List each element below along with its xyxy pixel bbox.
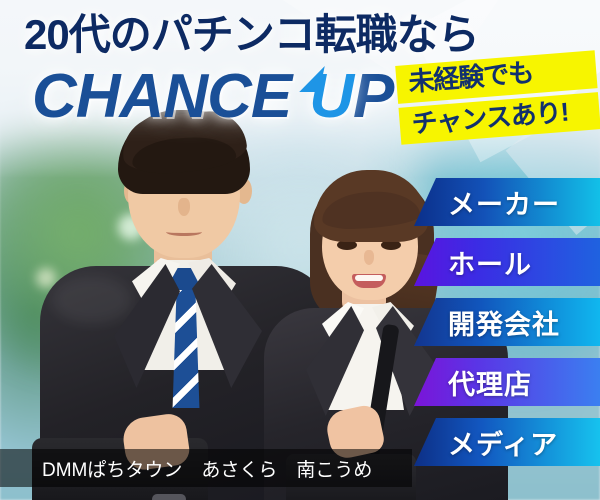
briefcase-clasp: [152, 494, 186, 500]
male-shoulder-highlight: [52, 276, 132, 324]
chance-up-logo: CHANCEUP: [32, 66, 432, 128]
category-button-developer[interactable]: 開発会社: [414, 298, 600, 346]
category-label-developer: 開発会社: [448, 303, 560, 342]
male-nose: [178, 198, 190, 216]
headline-text: 20代のパチンコ転職なら: [24, 14, 444, 56]
category-list: メーカー ホール 開発会社 代理店 メディア: [414, 178, 600, 466]
recruitment-banner[interactable]: 20代のパチンコ転職なら CHANCEUP 未経験でも チャンスあり! メーカー…: [0, 0, 600, 500]
female-teeth: [355, 275, 383, 281]
category-button-hall[interactable]: ホール: [414, 238, 600, 286]
logo-p-letter: P: [353, 62, 393, 131]
category-button-media[interactable]: メディア: [414, 418, 600, 466]
category-label-media: メディア: [448, 423, 558, 462]
category-label-hall: ホール: [448, 243, 532, 282]
logo-chance-text: CHANCE: [32, 62, 291, 131]
category-label-agency: 代理店: [448, 363, 532, 402]
category-button-maker[interactable]: メーカー: [414, 178, 600, 226]
male-mouth: [166, 228, 202, 236]
credits-caption-bar: DMMぱちタウン あさくら 南こうめ: [0, 449, 412, 487]
category-label-maker: メーカー: [448, 183, 560, 222]
no-experience-badge: 未経験でも チャンスあり!: [395, 50, 600, 145]
credits-caption-text: DMMぱちタウン あさくら 南こうめ: [42, 455, 372, 482]
female-nose: [364, 250, 374, 265]
category-button-agency[interactable]: 代理店: [414, 358, 600, 406]
